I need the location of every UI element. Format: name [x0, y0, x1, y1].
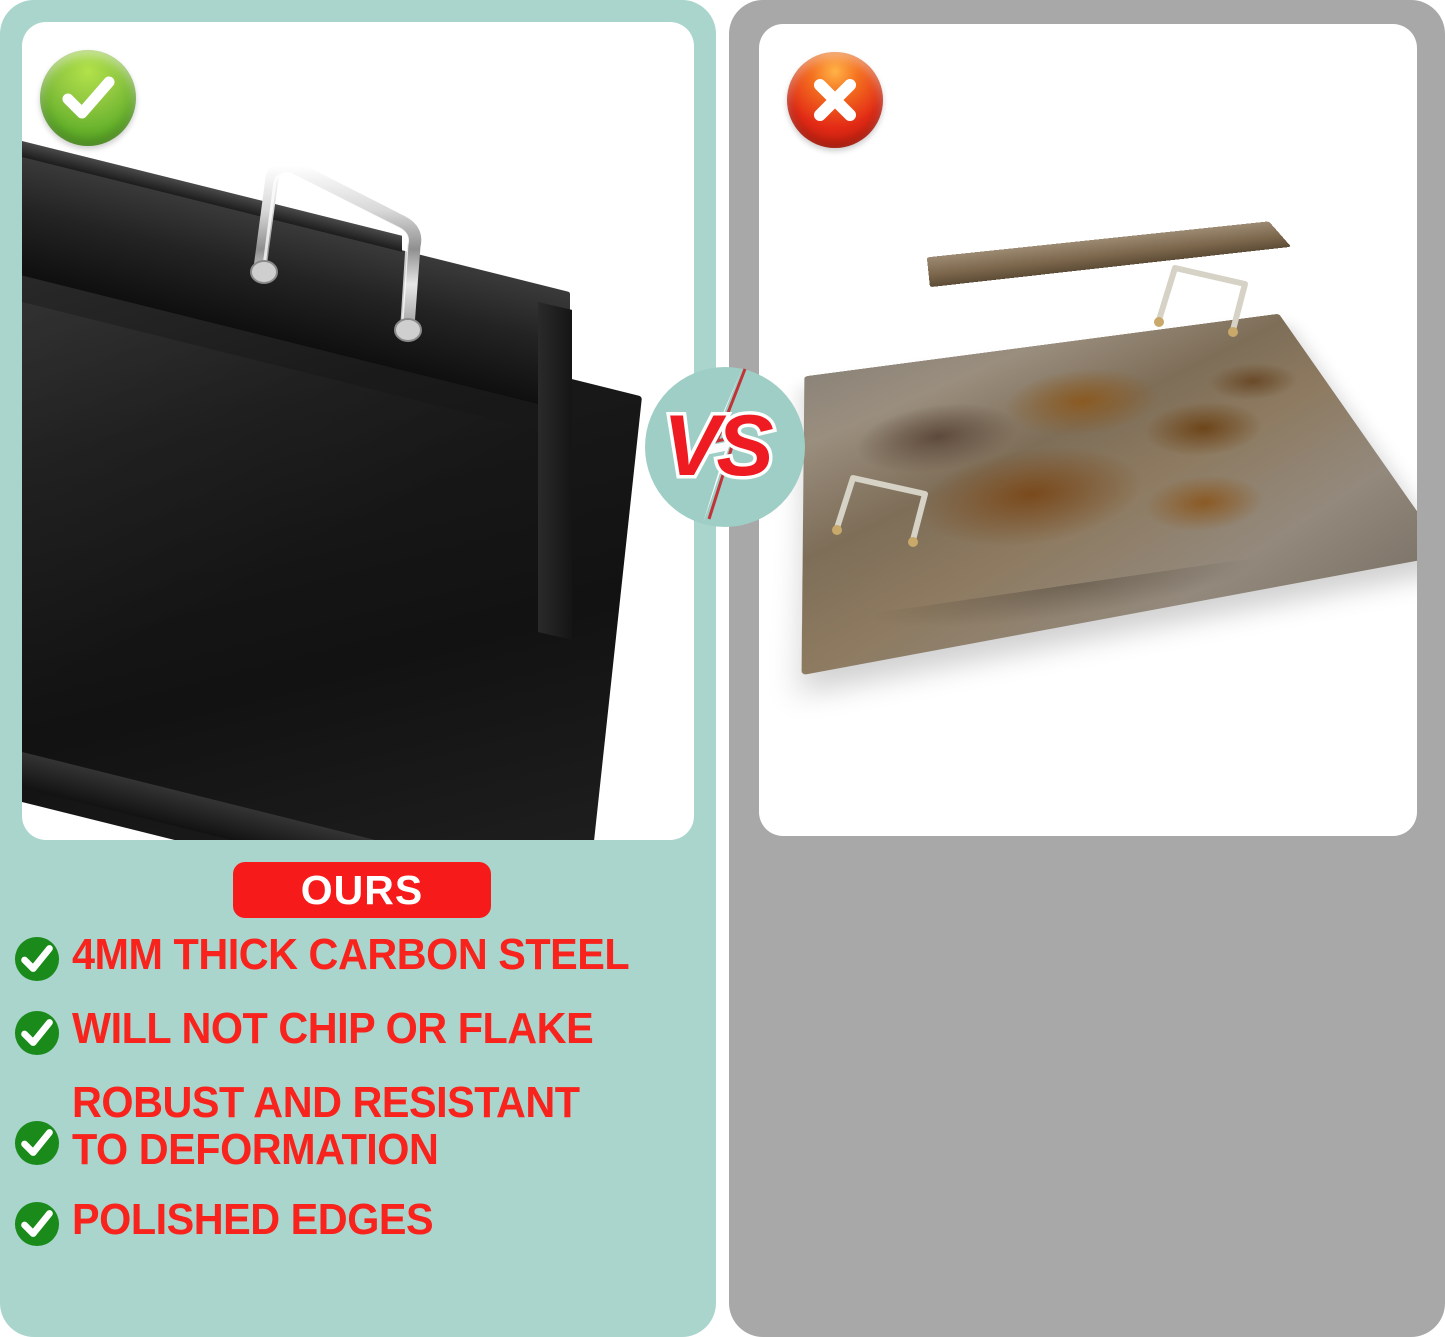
green-check-icon	[14, 1010, 60, 1056]
feature-text: ROBUST AND RESISTANT TO DEFORMATION	[72, 1080, 580, 1173]
griddle-right-edge	[538, 302, 572, 640]
list-item: ROBUST AND RESISTANT TO DEFORMATION	[14, 1084, 714, 1173]
feature-text: POLISHED EDGES	[72, 1197, 433, 1244]
green-check-glossy-icon	[40, 50, 136, 146]
product-comparison-infographic: OURS 4MM THICK CARBON STEEL WILL NOT CHI…	[0, 0, 1445, 1337]
ours-title-pill: OURS	[233, 862, 491, 918]
rusty-griddle-illustration	[759, 24, 1417, 836]
feature-text: WILL NOT CHIP OR FLAKE	[72, 1006, 593, 1053]
black-griddle-illustration	[22, 22, 694, 840]
list-item: WILL NOT CHIP OR FLAKE	[14, 1010, 714, 1056]
green-check-icon	[14, 1120, 60, 1166]
wire-handle-icon	[825, 468, 955, 548]
green-check-icon	[14, 936, 60, 982]
chrome-handle-icon	[242, 150, 442, 350]
red-cross-glossy-icon	[787, 52, 883, 148]
ours-panel: OURS 4MM THICK CARBON STEEL WILL NOT CHI…	[0, 0, 716, 1337]
black-griddle	[22, 132, 694, 812]
rusty-griddle	[811, 256, 1411, 716]
green-check-icon	[14, 1201, 60, 1247]
ours-product-photo	[22, 22, 694, 840]
vs-lightning-icon: VS	[645, 367, 805, 527]
others-panel: OTHERS Thinner and lighter materials Chi…	[729, 0, 1445, 1337]
wire-handle-icon	[1149, 254, 1279, 334]
others-product-photo	[759, 24, 1417, 836]
feature-text: 4MM THICK CARBON STEEL	[72, 932, 629, 979]
ours-feature-list: 4MM THICK CARBON STEEL WILL NOT CHIP OR …	[14, 936, 714, 1247]
list-item: 4MM THICK CARBON STEEL	[14, 936, 714, 982]
list-item: POLISHED EDGES	[14, 1201, 714, 1247]
vs-label: VS	[663, 398, 773, 494]
